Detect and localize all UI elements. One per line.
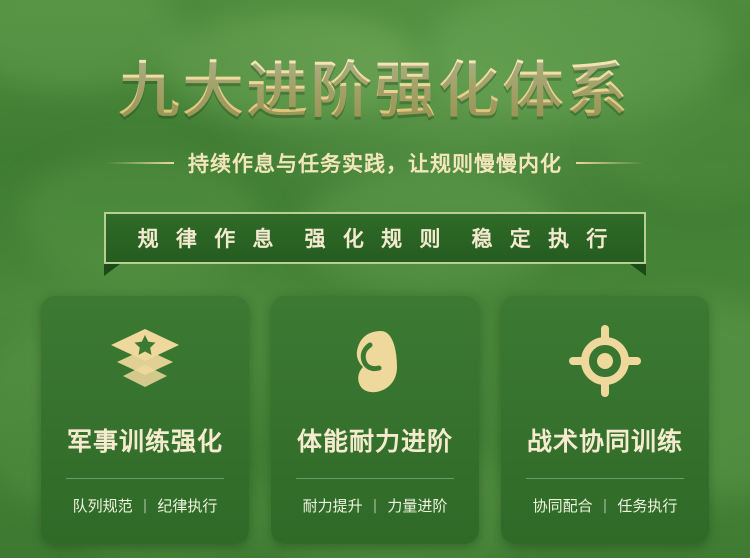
- card-tag: 任务执行: [617, 495, 677, 516]
- card-physical-endurance[interactable]: 体能耐力进阶 耐力提升 | 力量进阶: [271, 296, 479, 544]
- card-tags: 队列规范 | 纪律执行: [73, 495, 218, 516]
- tag-separator: |: [603, 498, 608, 514]
- card-tag: 耐力提升: [303, 495, 363, 516]
- poster-header: 九大进阶强化体系 持续作息与任务实践，让规则慢慢内化: [0, 0, 750, 210]
- ribbon-banner: 规 律 作 息 强 化 规 则 稳 定 执 行: [104, 212, 646, 264]
- card-title: 战术协同训练: [527, 422, 683, 458]
- card-divider: [526, 478, 684, 479]
- card-tactical-coordination[interactable]: 战术协同训练 协同配合 | 任务执行: [501, 296, 709, 544]
- card-divider: [296, 478, 454, 479]
- card-tag: 纪律执行: [157, 495, 217, 516]
- card-tags: 耐力提升 | 力量进阶: [303, 495, 448, 516]
- page-title: 九大进阶强化体系: [0, 42, 750, 129]
- card-tag: 协同配合: [533, 495, 593, 516]
- card-row: 军事训练强化 队列规范 | 纪律执行 体能耐力进阶 耐力提升: [0, 296, 750, 544]
- card-tags: 协同配合 | 任务执行: [533, 495, 678, 516]
- ribbon-tail-left: [104, 264, 120, 276]
- ribbon-tail-right: [630, 264, 646, 276]
- card-military-training[interactable]: 军事训练强化 队列规范 | 纪律执行: [41, 296, 249, 544]
- subtitle-rule-left: [106, 162, 174, 164]
- subtitle-row: 持续作息与任务实践，让规则慢慢内化: [0, 148, 750, 178]
- card-divider: [66, 478, 224, 479]
- subtitle-text: 持续作息与任务实践，让规则慢慢内化: [188, 148, 562, 178]
- target-crosshair-icon: [567, 322, 643, 400]
- flexed-biceps-icon: [337, 322, 413, 400]
- tag-separator: |: [143, 498, 148, 514]
- poster-root: 九大进阶强化体系 持续作息与任务实践，让规则慢慢内化 规 律 作 息 强 化 规…: [0, 0, 750, 558]
- subtitle-rule-right: [576, 162, 644, 164]
- tag-separator: |: [373, 498, 378, 514]
- card-tag: 力量进阶: [387, 495, 447, 516]
- card-title: 军事训练强化: [67, 422, 223, 458]
- layers-star-icon: [107, 322, 183, 400]
- ribbon-text: 规 律 作 息 强 化 规 则 稳 定 执 行: [138, 223, 613, 253]
- card-tag: 队列规范: [73, 495, 133, 516]
- card-title: 体能耐力进阶: [297, 422, 453, 458]
